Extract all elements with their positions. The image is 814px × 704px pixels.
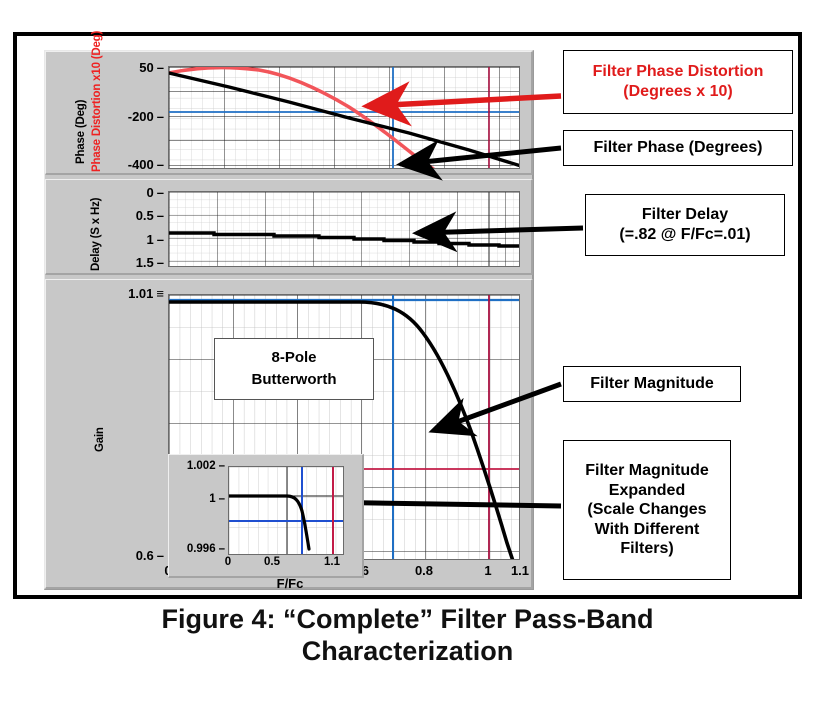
callout-magnitude: Filter Magnitude [563,366,741,402]
callout-magnitude-expanded-line5: Filters) [620,539,673,559]
delay-plot-area[interactable] [168,191,520,267]
delay-ytick-1: 0.5– [108,208,164,223]
figure-caption-line1: Figure 4: “Complete” Filter Pass-Band [13,604,802,636]
filter-type-line2: Butterworth [252,369,337,392]
figure-caption-line2: Characterization [13,636,802,668]
callout-magnitude-line1: Filter Magnitude [590,374,714,394]
callout-magnitude-expanded-line1: Filter Magnitude [585,461,709,481]
delay-plot-svg [169,192,520,267]
figure-caption: Figure 4: “Complete” Filter Pass-Band Ch… [13,604,802,668]
phase-ytick-1: -200– [108,109,164,124]
phase-panel: Phase (Deg) Phase Distortion x10 (Deg) 5… [45,51,533,175]
phase-ytick-2: -400– [108,157,164,172]
phase-yaxis-title: Phase (Deg) [75,68,87,164]
inset-ytick-2: 0.996– [167,543,225,555]
phase-plot-area[interactable] [168,66,520,169]
callout-phase: Filter Phase (Degrees) [563,130,793,166]
callout-magnitude-expanded-line4: With Different [595,520,700,540]
graph-stack: Phase (Deg) Phase Distortion x10 (Deg) 5… [44,50,534,590]
callout-phase-line1: Filter Phase (Degrees) [594,138,763,158]
delay-yaxis-title: Delay (S x Hz) [90,185,102,271]
callout-phase-distortion: Filter Phase Distortion (Degrees x 10) [563,50,793,114]
inset-xtick-1: 0.5 [259,556,285,568]
callout-phase-distortion-line2: (Degrees x 10) [623,82,732,102]
callout-magnitude-expanded-line3: (Scale Changes [587,500,706,520]
callout-delay-line2: (=.82 @ F/Fc=.01) [619,225,750,245]
delay-ytick-2: 1– [108,232,164,247]
inset-xtick-0: 0 [215,556,241,568]
inset-ytick-0: 1.002– [167,460,225,472]
callout-delay-line1: Filter Delay [642,205,728,225]
callout-magnitude-expanded: Filter Magnitude Expanded (Scale Changes… [563,440,731,580]
gain-xaxis-title: F/Fc [46,576,534,591]
filter-type-line1: 8-Pole [271,347,316,370]
gain-ytick-bottom: 0.6– [98,548,164,563]
callout-phase-distortion-line1: Filter Phase Distortion [593,62,764,82]
phase-ytick-0: 50– [108,60,164,75]
phase-distortion-yaxis-title: Phase Distortion x10 (Deg) [91,60,103,172]
phase-plot-svg [169,67,520,169]
gain-yaxis-title: Gain [94,408,106,452]
callout-delay: Filter Delay (=.82 @ F/Fc=.01) [585,194,785,256]
callout-magnitude-expanded-line2: Expanded [609,481,685,501]
gain-inset-plot-area[interactable] [228,466,344,555]
delay-panel: Delay (S x Hz) 0– 0.5– 1– 1.5– [45,179,533,275]
figure-frame: Phase (Deg) Phase Distortion x10 (Deg) 5… [13,32,802,599]
filter-type-label: 8-Pole Butterworth [214,338,374,400]
gain-panel: Gain 1.01≡ 0.6– [45,279,533,589]
inset-ytick-1: 1– [167,493,225,505]
delay-ytick-0: 0– [108,185,164,200]
inset-xtick-2: 1.1 [319,556,345,568]
gain-inset-panel: 1.002– 1– 0.996– [168,454,364,578]
delay-ytick-3: 1.5– [108,255,164,270]
gain-ytick-top: 1.01≡ [98,286,164,301]
gain-inset-svg [229,467,344,555]
